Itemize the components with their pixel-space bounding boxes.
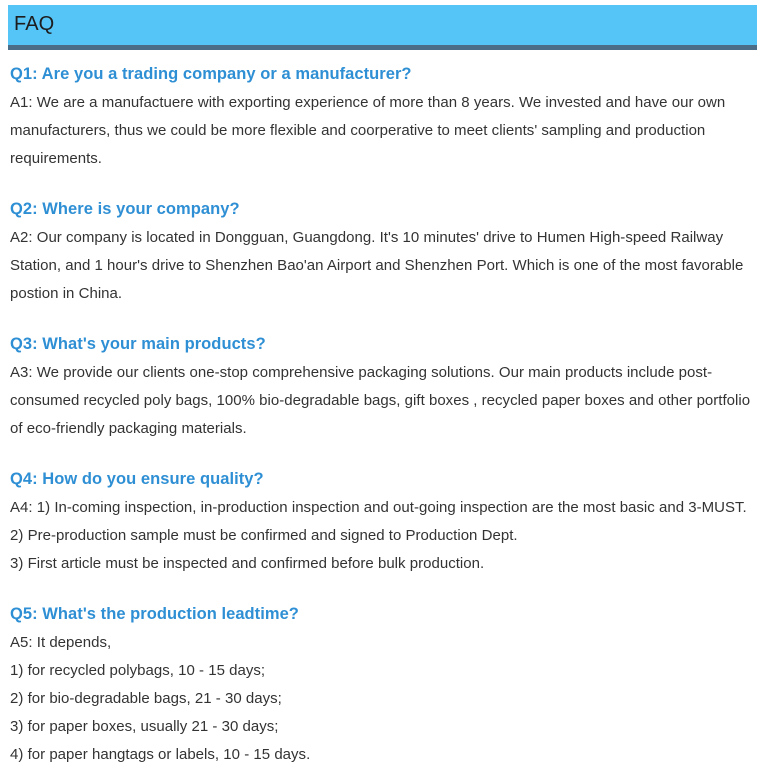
faq-question-q1: Q1: Are you a trading company or a manuf…	[10, 62, 755, 86]
faq-item: Q4: How do you ensure quality?A4: 1) In-…	[10, 467, 755, 578]
faq-answer-q2: A2: Our company is located in Dongguan, …	[10, 224, 754, 308]
faq-question-q3: Q3: What's your main products?	[10, 332, 755, 356]
faq-question-q2: Q2: Where is your company?	[10, 197, 755, 221]
page-title: FAQ	[14, 11, 54, 37]
faq-answer-line: A3: We provide our clients one-stop comp…	[10, 359, 754, 443]
faq-answer-line: A2: Our company is located in Dongguan, …	[10, 224, 754, 308]
faq-item: Q2: Where is your company?A2: Our compan…	[10, 197, 755, 308]
faq-answer-line: A4: 1) In-coming inspection, in-producti…	[10, 494, 754, 522]
faq-answer-line: A1: We are a manufactuere with exporting…	[10, 89, 754, 173]
faq-item: Q5: What's the production leadtime?A5: I…	[10, 602, 755, 769]
faq-answer-line: 3) for paper boxes, usually 21 - 30 days…	[10, 713, 754, 741]
faq-answer-line: 2) for bio-degradable bags, 21 - 30 days…	[10, 685, 754, 713]
faq-question-q4: Q4: How do you ensure quality?	[10, 467, 755, 491]
faq-answer-line: 1) for recycled polybags, 10 - 15 days;	[10, 657, 754, 685]
faq-answer-line: 3) First article must be inspected and c…	[10, 550, 754, 578]
faq-question-q5: Q5: What's the production leadtime?	[10, 602, 755, 626]
faq-answer-q5: A5: It depends,1) for recycled polybags,…	[10, 629, 754, 769]
faq-item: Q3: What's your main products?A3: We pro…	[10, 332, 755, 443]
faq-header-bar: FAQ	[8, 5, 757, 50]
faq-answer-line: 4) for paper hangtags or labels, 10 - 15…	[10, 741, 754, 769]
faq-page: FAQ Q1: Are you a trading company or a m…	[0, 0, 765, 748]
faq-answer-line: 2) Pre-production sample must be confirm…	[10, 522, 754, 550]
faq-content: Q1: Are you a trading company or a manuf…	[10, 62, 755, 769]
faq-answer-q1: A1: We are a manufactuere with exporting…	[10, 89, 754, 173]
faq-answer-q4: A4: 1) In-coming inspection, in-producti…	[10, 494, 754, 578]
faq-item: Q1: Are you a trading company or a manuf…	[10, 62, 755, 173]
faq-answer-line: A5: It depends,	[10, 629, 754, 657]
faq-answer-q3: A3: We provide our clients one-stop comp…	[10, 359, 754, 443]
